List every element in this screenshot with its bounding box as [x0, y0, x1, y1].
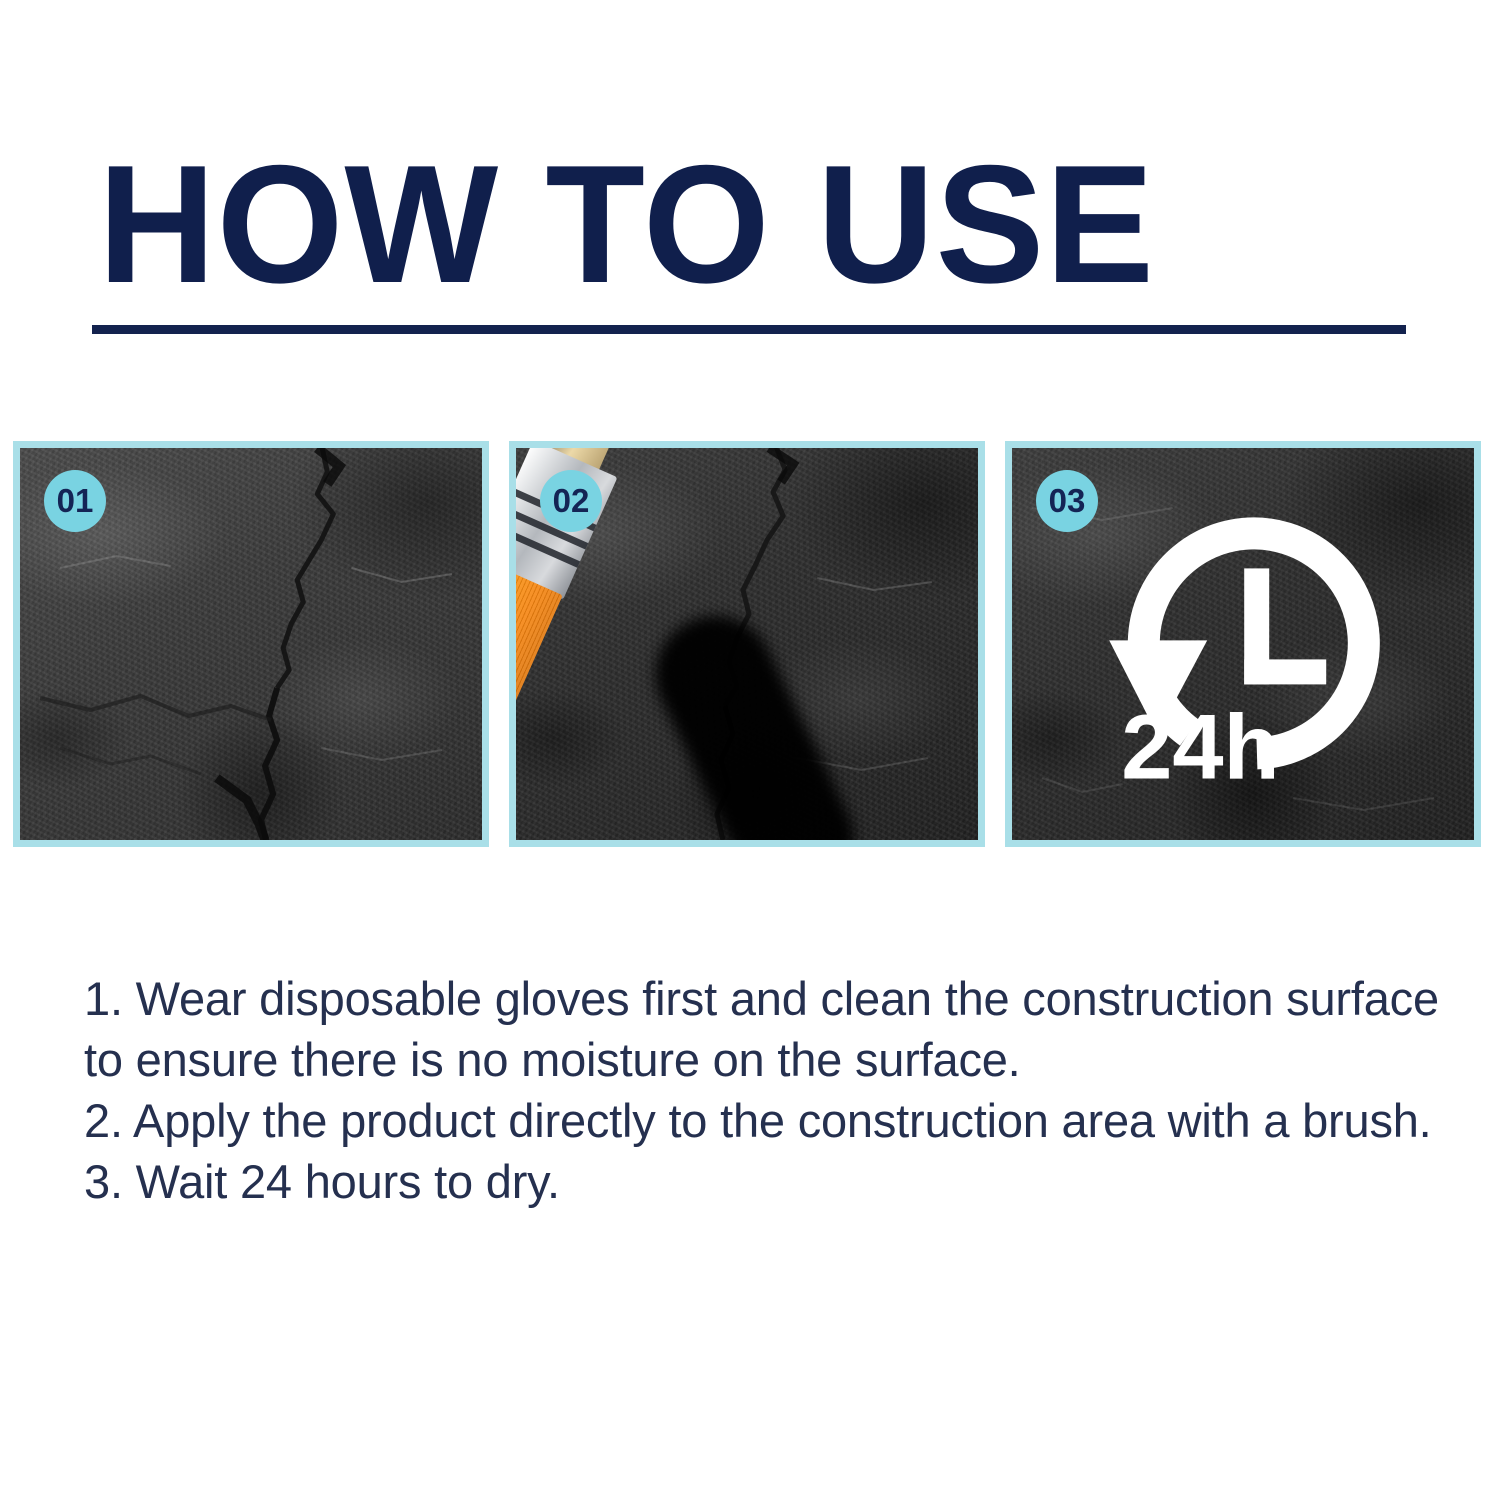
- step-badge-03: 03: [1036, 470, 1098, 532]
- clock-24h-label: 24h: [1121, 696, 1280, 798]
- page-title: HOW TO USE: [98, 140, 1155, 308]
- instruction-step-3: 3. Wait 24 hours to dry.: [84, 1151, 1444, 1212]
- step-badge-01: 01: [44, 470, 106, 532]
- step-badge-02: 02: [540, 470, 602, 532]
- instructions-list: 1. Wear disposable gloves first and clea…: [84, 968, 1444, 1212]
- instruction-step-2: 2. Apply the product directly to the con…: [84, 1090, 1444, 1151]
- clock-24h-icon: 24h: [1091, 490, 1421, 810]
- step-panel-02: 02: [509, 441, 985, 847]
- brush-bristles: [509, 559, 563, 774]
- step-panel-03: 24h 03: [1005, 441, 1481, 847]
- title-divider: [92, 325, 1406, 334]
- instruction-step-1: 1. Wear disposable gloves first and clea…: [84, 968, 1444, 1090]
- brush-shadow: [636, 596, 874, 847]
- step-image-strip: 01 02: [13, 441, 1481, 847]
- step-panel-01: 01: [13, 441, 489, 847]
